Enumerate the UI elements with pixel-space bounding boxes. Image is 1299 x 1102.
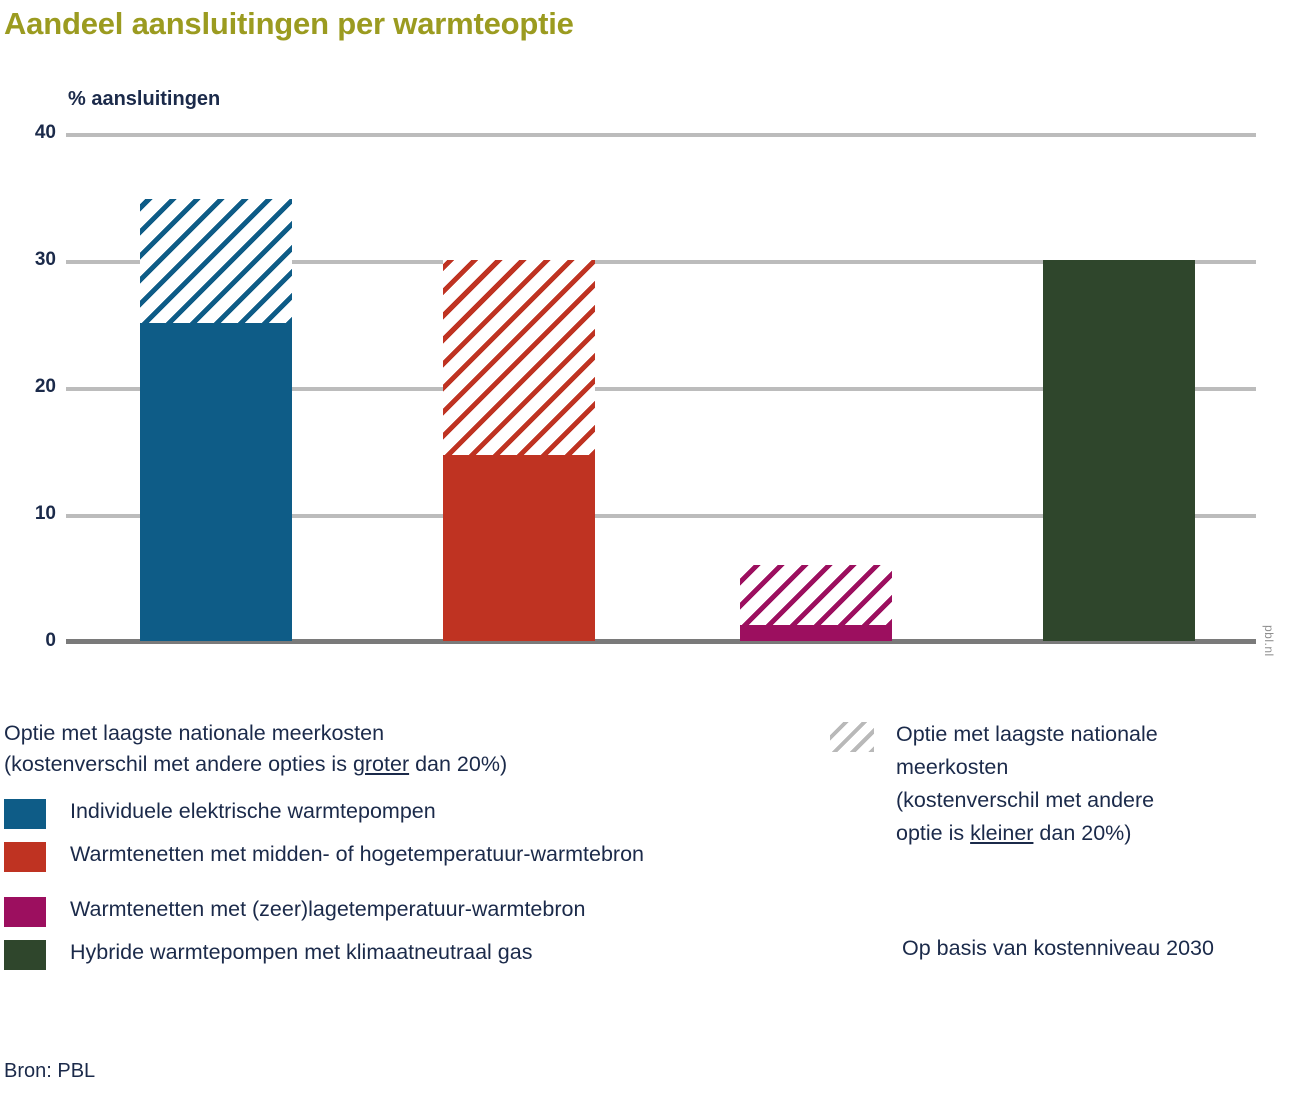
- legend-swatch-red: [4, 842, 46, 872]
- chart-legend: Optie met laagste nationale meerkosten (…: [0, 718, 1299, 1048]
- bar-solid-segment: [740, 625, 892, 641]
- legend-label: Warmtenetten met midden- of hogetemperat…: [70, 839, 644, 869]
- legend-item-warmtenetten-midden-hoge-temperatuur[interactable]: Warmtenetten met midden- of hogetemperat…: [4, 839, 804, 872]
- legend-solid-heading-line1: Optie met laagste nationale meerkosten: [4, 721, 384, 745]
- legend-hatched-line2: meerkosten: [896, 755, 1008, 779]
- y-tick-10: 10: [0, 503, 56, 525]
- legend-swatch-green: [4, 940, 46, 970]
- legend-solid-heading: Optie met laagste nationale meerkosten (…: [4, 718, 804, 780]
- bar-hatch-segment: [740, 565, 892, 626]
- legend-solid-heading-emphasis: groter: [353, 752, 409, 776]
- bar-hybride-warmtepompen-klimaatneutraal-gas[interactable]: [1043, 260, 1195, 641]
- legend-hatched-line4-b: dan 20%): [1033, 821, 1131, 845]
- legend-hatched-label: Optie met laagste nationale meerkosten (…: [896, 718, 1158, 850]
- y-axis-label: % aansluitingen: [68, 88, 220, 111]
- legend-label: Individuele elektrische warmtepompen: [70, 796, 436, 826]
- chart-page: Aandeel aansluitingen per warmteoptie % …: [0, 0, 1299, 1102]
- legend-swatch-purple: [4, 897, 46, 927]
- legend-item-warmtenetten-lage-temperatuur[interactable]: Warmtenetten met (zeer)lagetemperatuur-w…: [4, 894, 804, 927]
- gridline-40: [66, 133, 1256, 137]
- legend-hatched-group: Optie met laagste nationale meerkosten (…: [830, 718, 1299, 860]
- legend-label: Hybride warmtepompen met klimaatneutraal…: [70, 937, 532, 967]
- legend-item-hatched[interactable]: Optie met laagste nationale meerkosten (…: [830, 718, 1299, 850]
- pbl-watermark: pbl.nl: [1262, 625, 1276, 657]
- legend-item-hybride-warmtepompen-klimaatneutraal-gas[interactable]: Hybride warmtepompen met klimaatneutraal…: [4, 937, 804, 970]
- legend-hatched-line3: (kostenverschil met andere: [896, 788, 1154, 812]
- bar-chart: % aansluitingen 40 30 20 10 0: [0, 70, 1299, 670]
- legend-hatched-line1: Optie met laagste nationale: [896, 722, 1158, 746]
- legend-solid-group: Optie met laagste nationale meerkosten (…: [4, 718, 804, 980]
- legend-cost-level-note: Op basis van kostenniveau 2030: [902, 936, 1214, 961]
- legend-swatch-blue: [4, 799, 46, 829]
- y-tick-20: 20: [0, 376, 56, 398]
- legend-swatch-hatched-icon: [830, 722, 874, 752]
- bar-solid-segment: [140, 323, 292, 641]
- legend-item-individuele-elektrische-warmtepompen[interactable]: Individuele elektrische warmtepompen: [4, 796, 804, 829]
- source-note: Bron: PBL: [4, 1060, 95, 1083]
- legend-label: Warmtenetten met (zeer)lagetemperatuur-w…: [70, 894, 585, 924]
- bar-warmtenetten-midden-hoge-temperatuur[interactable]: [443, 260, 595, 641]
- plot-area: [66, 133, 1256, 641]
- legend-solid-heading-line2-b: dan 20%): [409, 752, 507, 776]
- legend-hatched-emphasis: kleiner: [970, 821, 1033, 845]
- bar-hatch-segment: [443, 260, 595, 456]
- y-tick-0: 0: [0, 630, 56, 652]
- y-tick-40: 40: [0, 122, 56, 144]
- legend-hatched-line4-a: optie is: [896, 821, 970, 845]
- legend-solid-heading-line2-a: (kostenverschil met andere opties is: [4, 752, 353, 776]
- bar-hatch-segment: [140, 199, 292, 324]
- bar-warmtenetten-lage-temperatuur[interactable]: [740, 565, 892, 641]
- bar-solid-segment: [443, 455, 595, 641]
- page-title: Aandeel aansluitingen per warmteoptie: [4, 6, 574, 42]
- bar-individuele-elektrische-warmtepompen[interactable]: [140, 199, 292, 641]
- y-tick-30: 30: [0, 249, 56, 271]
- bar-solid-segment: [1043, 260, 1195, 641]
